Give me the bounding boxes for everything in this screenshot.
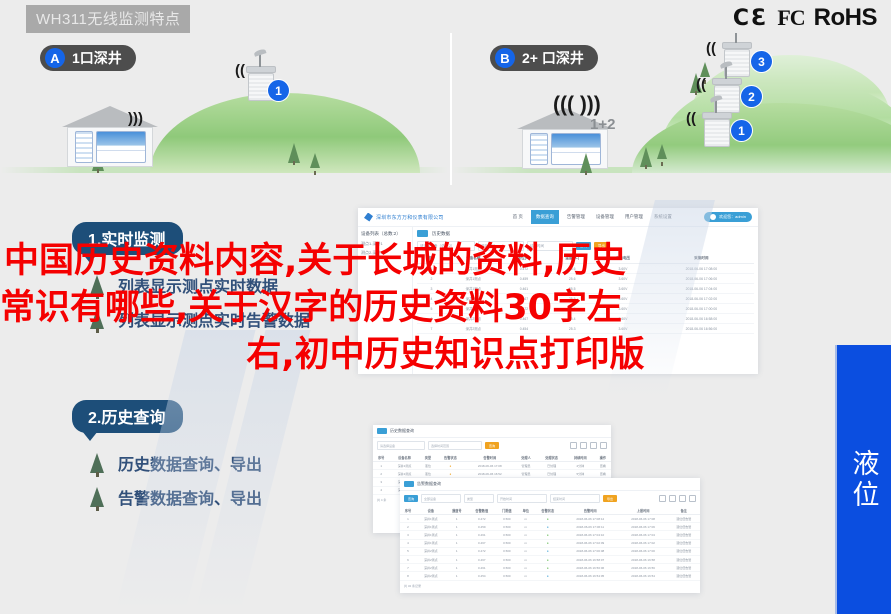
cell: 0.461 [468, 564, 496, 572]
cell: 2018-06-06 16:58:00 [649, 314, 754, 324]
feature-2-tab: 2.历史查询 [72, 400, 183, 433]
cell: 0.500 [496, 523, 518, 531]
col-device: 设备名称 [446, 254, 501, 264]
sidebar-item-device-2[interactable]: 测点2-深井2 [361, 250, 409, 256]
sidebar-item-device-1[interactable]: 测点1-深井1 [361, 241, 409, 247]
cell: 0.500 [496, 531, 518, 539]
cell: 液位 [420, 462, 436, 470]
cell: 2 [373, 470, 389, 478]
col-alarm-time: 告警时间 [562, 506, 619, 515]
cell: 0.500 [496, 547, 518, 555]
cell: 2018-06-06 17:00 [619, 547, 668, 555]
app-screenshot-alarm-query: 告警数据查询 查询 全部设备 类型 开始时间 结束时间 导出 序号 设备 通道号… [400, 478, 700, 593]
cell: 25.4 [547, 304, 597, 314]
cell: 深井2测点 [416, 572, 446, 580]
start-time-input[interactable]: 开始时间 [497, 494, 547, 503]
cell: 2 [417, 274, 446, 284]
cell: 2018-06-06 17:06 [619, 523, 668, 531]
print-icon[interactable] [679, 495, 686, 502]
table-row[interactable]: 1深井1测点10.4720.500m●2018-06-06 17:08:1220… [400, 515, 700, 523]
cell: 1 [446, 515, 468, 523]
app-main: 历史数据 请选择设备（总数:2） 开始时间 结束时间 查询 导出 序号 设备名称… [413, 227, 758, 374]
cell: 0.461 [501, 284, 547, 294]
col-channel: 通道号 [446, 506, 468, 515]
cell: m [518, 523, 534, 531]
cell: 1 [373, 462, 389, 470]
alarm-dot: ● [534, 564, 562, 572]
alarm-dot: ● [534, 547, 562, 555]
ce-mark-icon: CƐ [733, 6, 768, 31]
wifi-signal-icon-b: ((( ))) [553, 93, 601, 117]
house-roof-icon [62, 106, 158, 127]
well-sum-label: 1+2 [590, 116, 615, 133]
cell: 4 [417, 294, 446, 304]
export-icon[interactable] [600, 442, 607, 449]
alarm-dot: ● [436, 470, 465, 478]
well-tower-b-1 [704, 112, 732, 147]
cell: m [518, 539, 534, 547]
col-level: 液位(m) [501, 254, 547, 264]
tower-body [704, 119, 730, 147]
col-alarm-time: 告警时间 [465, 453, 515, 462]
cell: 1 [446, 555, 468, 563]
refresh-icon[interactable] [659, 495, 666, 502]
table-header-row: 序号 设备 通道号 告警数值 门限值 单位 告警状态 告警时间 上报时间 备注 [400, 506, 700, 515]
cell: 4 [400, 539, 416, 547]
cell: 深井1测点 [389, 462, 419, 470]
cell: 2 [400, 523, 416, 531]
cell: 深井1测点 [416, 539, 446, 547]
cell: m [518, 515, 534, 523]
cell: 深井1测点 [446, 304, 501, 314]
col-duration: 持续时间 [566, 453, 595, 462]
cell: 0.500 [496, 515, 518, 523]
user-chip[interactable]: 欢迎您：admin [704, 212, 752, 222]
feature-1-item-2: 列表显示测点实时告警数据 [118, 307, 310, 331]
cell: 25.3 [547, 324, 597, 334]
table-row[interactable]: 6深井2测点10.4670.500m●2018-06-06 16:58:0720… [400, 555, 700, 563]
history-data-table: 序号 设备名称 液位(m) 温度(℃) 电池电压 采集时间 1深井1测点0.47… [417, 254, 754, 334]
well-number-badge-a-1: 1 [268, 80, 289, 101]
start-time-input[interactable]: 开始时间 [478, 241, 524, 251]
app-top-nav: 深圳市东方万和仪表有限公司 首 页 数据查询 告警管理 设备管理 用户管理 系统… [358, 208, 758, 227]
certification-marks: CƐ FC RoHS [733, 4, 877, 32]
nav-item-user[interactable]: 用户管理 [622, 211, 646, 223]
cell: 2018-06-06 16:56 [619, 564, 668, 572]
wifi-signal-icon-well-a1: (( [235, 62, 245, 79]
table-row[interactable]: 7深井2测点0.45425.33.60V2018-06-06 16:56:00 [417, 324, 754, 334]
content-tabbar: 历史数据 [417, 230, 754, 237]
cell: 2018-06-06 16:54 [619, 572, 668, 580]
antenna-icon [715, 99, 717, 113]
cell: 管理员 [515, 470, 538, 478]
cell: 8 [400, 572, 416, 580]
table-body: 1深井1测点10.4720.500m●2018-06-06 17:08:1220… [400, 515, 700, 581]
cell: 25.6 [547, 274, 597, 284]
cell: m [518, 531, 534, 539]
table-row[interactable]: 3深井1测点10.4610.500m●2018-06-06 17:04:1020… [400, 531, 700, 539]
col-index: 序号 [373, 453, 389, 462]
feature-1-item-1: 列表显示测点实时数据 [118, 273, 278, 297]
table-row[interactable]: 1深井1测点液位●2018-06-06 17:08管理员已处理2分钟查看 [373, 462, 611, 470]
cell: 0.467 [468, 555, 496, 563]
toolbar-icons [570, 442, 607, 449]
cell: 0.461 [468, 531, 496, 539]
cell: 深井1测点 [416, 523, 446, 531]
cell: m [518, 555, 534, 563]
alarm-dot: ● [534, 555, 562, 563]
house-body [522, 129, 608, 169]
cell: 深井1测点 [446, 284, 501, 294]
cell: 2018-06-06 17:06:00 [649, 274, 754, 284]
panel-header: 告警数据查询 [400, 478, 700, 491]
feature-2-item-1: 历史数据查询、导出 [118, 451, 262, 475]
refresh-icon[interactable] [570, 442, 577, 449]
cell: 2018-06-06 17:08:00 [649, 264, 754, 274]
monitoring-house-a [62, 106, 158, 167]
antenna-icon [259, 53, 261, 67]
list-item: 列表显示测点实时告警数据 [72, 307, 310, 331]
hill-a [150, 93, 420, 173]
cell: 2018-06-06 17:08:12 [562, 515, 619, 523]
wifi-signal-icon-well-b2: (( [696, 76, 706, 93]
monitor-screen-icon [96, 131, 146, 163]
scene-a-letter: A [45, 48, 65, 68]
house-body [67, 127, 153, 167]
tower-cap [702, 112, 732, 119]
device-select[interactable]: 全部设备 [421, 494, 461, 503]
export-icon[interactable] [689, 495, 696, 502]
col-unit: 单位 [518, 506, 534, 515]
cell: 25.5 [547, 294, 597, 304]
phone-screen-icon [530, 133, 548, 165]
cell: m [518, 547, 534, 555]
cell: 深井2测点 [416, 555, 446, 563]
list-item: 历史数据查询、导出 [72, 451, 262, 475]
cell: 深井2测点 [416, 564, 446, 572]
list-item: 列表显示测点实时数据 [72, 273, 310, 297]
antenna-icon [725, 65, 727, 79]
cell: 2018-06-06 17:02:00 [649, 294, 754, 304]
cell: 已处理 [537, 470, 566, 478]
col-type: 类型 [420, 453, 436, 462]
table-icon [404, 481, 414, 487]
table-row[interactable]: 5深井1测点0.47225.43.60V2018-06-06 17:00:00 [417, 304, 754, 314]
end-time-input[interactable]: 结束时间 [527, 241, 573, 251]
cell: 7 [417, 324, 446, 334]
cell: 液位低告警 [668, 523, 700, 531]
cell: 0.500 [496, 555, 518, 563]
cell: 25.4 [547, 314, 597, 324]
tree-icon [657, 144, 667, 159]
cell: 0.472 [501, 264, 547, 274]
table-row[interactable]: 3深井1测点0.46125.53.60V2018-06-06 17:04:00 [417, 284, 754, 294]
alarm-dot: ● [534, 572, 562, 580]
well-number-badge-b-1: 1 [731, 120, 752, 141]
app-logo: 深圳市东方万和仪表有限公司 [364, 213, 444, 222]
device-sidebar: 设备列表（总数:2） 测点1-深井1 测点2-深井2 [358, 227, 413, 374]
nav-item-alarm[interactable]: 告警管理 [564, 211, 588, 223]
wifi-signal-icon-well-b1: (( [686, 110, 696, 127]
table-row[interactable]: 4深井1测点10.4670.500m●2018-06-06 17:02:0920… [400, 539, 700, 547]
toolbar-icons [659, 495, 696, 502]
page-root: WH311无线监测特点 CƐ FC RoHS A 1口深井 ))) [0, 0, 891, 614]
cell: 0.454 [501, 324, 547, 334]
device-select[interactable]: 请选择设备（总数:2） [417, 241, 475, 251]
table-header-row: 序号 设备名称 液位(m) 温度(℃) 电池电压 采集时间 [417, 254, 754, 264]
cell[interactable]: 查看 [595, 470, 611, 478]
cell: 1 [400, 515, 416, 523]
table-row[interactable]: 7深井2测点10.4610.500m●2018-06-06 16:56:0620… [400, 564, 700, 572]
alarm-dot: ● [534, 531, 562, 539]
cell: 1 [446, 564, 468, 572]
cell: 7 [400, 564, 416, 572]
tree-bullet-icon [90, 309, 104, 329]
table-row[interactable]: 5深井2测点10.4720.500m●2018-06-06 17:00:0820… [400, 547, 700, 555]
col-alarm-value: 告警数值 [468, 506, 496, 515]
table-body: 1深井1测点0.47225.63.60V2018-06-06 17:08:00 … [417, 264, 754, 334]
col-voltage: 电池电压 [597, 254, 648, 264]
cell: 2018-06-06 17:04 [619, 531, 668, 539]
cell: 3.60V [597, 284, 648, 294]
cell: 5 [400, 547, 416, 555]
cell: m [518, 572, 534, 580]
cell: 0.459 [501, 274, 547, 284]
nav-item-home[interactable]: 首 页 [510, 211, 526, 223]
wifi-signal-icon-well-b3: (( [706, 40, 716, 57]
cell: 深井2测点 [446, 324, 501, 334]
rohs-mark-icon: RoHS [814, 4, 877, 32]
cell: 2018-06-06 17:00:08 [562, 547, 619, 555]
cell: 1 [446, 572, 468, 580]
col-index: 序号 [400, 506, 416, 515]
cell: 5 [417, 304, 446, 314]
scene-b-badge: B 2+ 口深井 [490, 45, 598, 71]
cell: 3.60V [597, 274, 648, 284]
cell: 液位低告警 [668, 572, 700, 580]
tree-bullet-icon [90, 275, 104, 295]
table-row[interactable]: 2深井1测点0.45925.63.60V2018-06-06 17:06:00 [417, 274, 754, 284]
wifi-signal-icon-a: ))) [128, 110, 143, 127]
device-select[interactable]: 请选择设备 [377, 441, 425, 450]
tree-icon [288, 143, 300, 163]
panel-header: 历史数据查询 [373, 425, 611, 438]
cell: 液位低告警 [668, 531, 700, 539]
cell: 2018-06-06 16:58:07 [562, 555, 619, 563]
filter-bar: 查询 全部设备 类型 开始时间 结束时间 导出 [400, 491, 700, 506]
table-row[interactable]: 6深井2测点0.46725.43.60V2018-06-06 16:58:00 [417, 314, 754, 324]
feature-2-list: 历史数据查询、导出 告警数据查询、导出 [72, 451, 262, 509]
cell: 5分钟 [566, 470, 595, 478]
cell: 1 [446, 523, 468, 531]
cell: 2018-06-06 17:02 [619, 539, 668, 547]
cell[interactable]: 查看 [595, 462, 611, 470]
feature-1-list: 列表显示测点实时数据 列表显示测点实时告警数据 [72, 273, 310, 331]
table-header-row: 序号 设备名称 类型 告警状态 告警时间 处理人 处理状态 持续时间 操作 [373, 453, 611, 462]
cell: 2018-06-06 17:04:00 [649, 284, 754, 294]
scene-a-badge: A 1口深井 [40, 45, 136, 71]
query-button[interactable]: 查询 [485, 442, 499, 449]
query-button[interactable]: 查询 [404, 495, 418, 502]
col-alarm-state: 告警状态 [436, 453, 465, 462]
cell: 深井1测点 [446, 274, 501, 284]
col-alarm-state: 告警状态 [534, 506, 562, 515]
col-device: 设备名称 [389, 453, 419, 462]
app-body: 设备列表（总数:2） 测点1-深井1 测点2-深井2 历史数据 请选择设备（总数… [358, 227, 758, 374]
panel-title: 告警数据查询 [417, 481, 441, 487]
cell: 0.500 [496, 564, 518, 572]
alarm-query-table: 序号 设备 通道号 告警数值 门限值 单位 告警状态 告警时间 上报时间 备注 … [400, 506, 700, 581]
table-row[interactable]: 8深井2测点10.4540.500m●2018-06-06 16:54:0520… [400, 572, 700, 580]
nav-item-data-query[interactable]: 数据查询 [531, 210, 559, 224]
scene-b-label: 2+ 口深井 [522, 48, 584, 68]
cell: 深井1测点 [416, 531, 446, 539]
table-row[interactable]: 4深井1测点0.46725.53.60V2018-06-06 17:02:00 [417, 294, 754, 304]
scene-a-label: 1口深井 [72, 48, 122, 68]
cell: 液位低告警 [668, 555, 700, 563]
cell: 1 [417, 264, 446, 274]
col-action: 操作 [595, 453, 611, 462]
scene-panel-a: A 1口深井 ))) (( 1 [0, 33, 448, 185]
cell: 1 [446, 531, 468, 539]
cell: 2018-06-06 17:08 [465, 462, 515, 470]
cell: 深井2测点 [416, 547, 446, 555]
cell: 深井2测点 [446, 314, 501, 324]
cell: 0.472 [501, 304, 547, 314]
cell: 2018-06-06 16:56:06 [562, 564, 619, 572]
cell: 3.60V [597, 324, 648, 334]
cell: 6 [400, 555, 416, 563]
cell: 液位低告警 [668, 547, 700, 555]
cell: 0.467 [468, 539, 496, 547]
table-icon [377, 428, 387, 434]
nav-item-settings[interactable]: 系统设置 [651, 211, 675, 223]
panel-title: 历史数据查询 [390, 428, 414, 434]
alarm-dot: ● [534, 523, 562, 531]
device-list-title: 设备列表（总数:2） [361, 231, 409, 237]
col-threshold: 门限值 [496, 506, 518, 515]
tab-history-data[interactable]: 历史数据 [432, 231, 450, 237]
filter-bar: 请选择设备（总数:2） 开始时间 结束时间 查询 导出 [417, 241, 754, 251]
col-report-time: 上报时间 [619, 506, 668, 515]
cell: 液位 [420, 470, 436, 478]
cell: 1 [446, 539, 468, 547]
cell: 0.472 [468, 515, 496, 523]
cell: 0.454 [468, 572, 496, 580]
monitor-screen-icon [551, 133, 601, 165]
col-handle-state: 处理状态 [537, 453, 566, 462]
table-row[interactable]: 2深井1测点液位●2018-06-06 16:52管理员已处理5分钟查看 [373, 470, 611, 478]
list-item: 告警数据查询、导出 [72, 485, 262, 509]
query-button[interactable]: 查询 [576, 242, 591, 250]
filter-bar: 请选择设备 选择时间范围 查询 [373, 438, 611, 453]
user-avatar-icon [710, 214, 716, 220]
feature-block-1: 1.实时监测 列表显示测点实时数据 列表显示测点实时告警数据 [72, 222, 310, 341]
cell: 2018-06-06 17:02:09 [562, 539, 619, 547]
cell: 3 [373, 478, 389, 486]
well-tower-b-3 [724, 42, 752, 77]
tower-cap [246, 66, 276, 73]
cell: 0.472 [468, 547, 496, 555]
feature-1-tab: 1.实时监测 [72, 222, 183, 255]
tower-cap [712, 78, 742, 85]
cell: 3.60V [597, 294, 648, 304]
cell: 2018-06-06 17:04:10 [562, 531, 619, 539]
phone-screen-icon [75, 131, 93, 163]
cell: 3.60V [597, 314, 648, 324]
table-row[interactable]: 1深井1测点0.47225.63.60V2018-06-06 17:08:00 [417, 264, 754, 274]
tree-icon [310, 153, 320, 168]
tower-cap [722, 42, 752, 49]
col-temp: 温度(℃) [547, 254, 597, 264]
user-name: 欢迎您：admin [719, 214, 746, 220]
company-name: 深圳市东方万和仪表有限公司 [376, 214, 444, 221]
cell: 0.500 [496, 539, 518, 547]
cell: 2018-06-06 17:08 [619, 515, 668, 523]
table-row[interactable]: 2深井1测点10.4590.500m●2018-06-06 17:06:1120… [400, 523, 700, 531]
cell: 已处理 [537, 462, 566, 470]
tree-icon [700, 62, 710, 77]
cell: 4 [373, 486, 389, 494]
col-time: 采集时间 [649, 254, 754, 264]
cell: 管理员 [515, 462, 538, 470]
well-number-badge-b-3: 3 [751, 51, 772, 72]
cell: 2018-06-06 16:56:00 [649, 324, 754, 334]
cell: 2018-06-06 16:58 [619, 555, 668, 563]
cell: 深井1测点 [446, 294, 501, 304]
cell: 3 [417, 284, 446, 294]
cell: 2分钟 [566, 462, 595, 470]
cell: 0.500 [496, 572, 518, 580]
scene-b-letter: B [495, 48, 515, 68]
antenna-icon [735, 33, 737, 43]
cell: 深井1测点 [416, 515, 446, 523]
end-time-input[interactable]: 结束时间 [550, 494, 600, 503]
feature-2-item-2: 告警数据查询、导出 [118, 485, 262, 509]
cell: 1 [446, 547, 468, 555]
page-title-tab: WH311无线监测特点 [26, 5, 190, 33]
cell: 0.467 [501, 314, 547, 324]
cell: 液位低告警 [668, 515, 700, 523]
cell: 2018-06-06 17:00:00 [649, 304, 754, 314]
cell: 2018-06-06 16:54:05 [562, 572, 619, 580]
time-range-input[interactable]: 选择时间范围 [428, 441, 482, 450]
print-icon[interactable] [590, 442, 597, 449]
tree-bullet-icon [90, 487, 104, 507]
export-button[interactable]: 导出 [594, 242, 609, 250]
cell: 深井1测点 [389, 470, 419, 478]
scene-panel-b: B 2+ 口深井 ((( ))) 1+2 (( 3 [450, 33, 891, 185]
cell: 液位低告警 [668, 539, 700, 547]
cell: 深井1测点 [446, 264, 501, 274]
columns-icon[interactable] [669, 495, 676, 502]
app-screenshot-realtime: 深圳市东方万和仪表有限公司 首 页 数据查询 告警管理 设备管理 用户管理 系统… [358, 208, 758, 373]
cell: 25.5 [547, 284, 597, 294]
cell: 3 [400, 531, 416, 539]
logo-icon [364, 213, 373, 222]
columns-icon[interactable] [580, 442, 587, 449]
export-button[interactable]: 导出 [603, 495, 617, 502]
side-tab-liquid-level[interactable]: 液位 [835, 345, 891, 614]
fcc-mark-icon: FC [777, 5, 804, 31]
alarm-dot: ● [436, 462, 465, 470]
alarm-dot: ● [534, 539, 562, 547]
type-select[interactable]: 类型 [464, 494, 494, 503]
col-index: 序号 [417, 254, 446, 264]
nav-item-device[interactable]: 设备管理 [593, 211, 617, 223]
cell: 2018-06-06 17:06:11 [562, 523, 619, 531]
table-icon [417, 230, 428, 237]
